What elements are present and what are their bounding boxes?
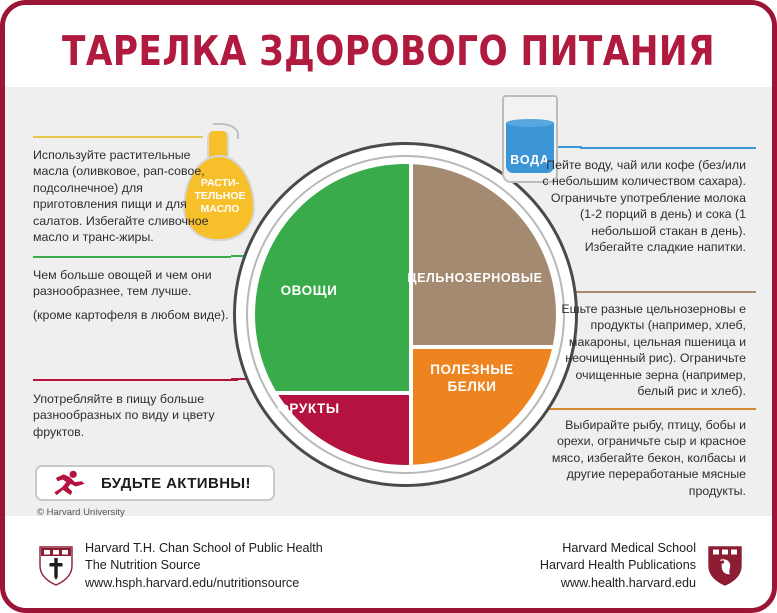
footer-right-line-3[interactable]: www.health.harvard.edu	[540, 575, 696, 593]
footer-right-lines: Harvard Medical School Harvard Health Pu…	[540, 540, 696, 593]
note-whole-grains-paragraph: Ешьте разные цельнозерновы е продукты (н…	[538, 301, 746, 399]
harvard-shield-icon	[39, 546, 73, 586]
note-vegetables-paragraph-2: (кроме картофеля в любом виде).	[33, 307, 229, 323]
be-active-label: БУДЬТЕ АКТИВНЫ!	[101, 475, 251, 492]
footer-right-line-1: Harvard Medical School	[540, 540, 696, 558]
footer-harvard-chan: Harvard T.H. Chan School of Public Healt…	[39, 540, 323, 593]
note-water: Пейте воду, чай или кофе (без/или с небо…	[538, 157, 746, 255]
note-oil: Используйте растительные масла (оливково…	[33, 147, 229, 245]
plate-label-proteins: ПОЛЕЗНЫЕ БЕЛКИ	[402, 361, 542, 395]
plate-quadrants	[255, 164, 556, 465]
note-whole-grains: Ешьте разные цельнозерновы е продукты (н…	[538, 301, 746, 399]
note-fruits: Употребляйте в пищу больше разнообразных…	[33, 391, 229, 440]
footer-right-line-2: Harvard Health Publications	[540, 557, 696, 575]
plate-section-whole-grains	[413, 164, 556, 345]
copyright-text: © Harvard University	[37, 507, 125, 518]
vegetables-connector-rule	[33, 256, 231, 258]
note-fruits-paragraph: Употребляйте в пищу больше разнообразных…	[33, 391, 229, 440]
footer-left-line-2: The Nutrition Source	[85, 557, 323, 575]
plate-label-fruits: ФРУКТЫ	[256, 400, 361, 417]
be-active-badge[interactable]: БУДЬТЕ АКТИВНЫ!	[35, 465, 275, 501]
note-proteins-paragraph: Выбирайте рыбу, птицу, бобы и орехи, огр…	[538, 417, 746, 499]
footer-left-line-1: Harvard T.H. Chan School of Public Healt…	[85, 540, 323, 558]
water-connector-rule	[580, 147, 756, 149]
plate-label-whole-grains: ЦЕЛЬНОЗЕРНОВЫЕ	[395, 270, 555, 287]
oil-connector-rule	[33, 136, 203, 138]
note-vegetables-paragraph-1: Чем больше овощей и чем они разнообразне…	[33, 267, 229, 300]
running-person-icon	[49, 470, 87, 496]
note-proteins: Выбирайте рыбу, птицу, бобы и орехи, огр…	[538, 417, 746, 499]
footer-left-lines: Harvard T.H. Chan School of Public Healt…	[85, 540, 323, 593]
fruits-connector-rule	[33, 379, 238, 381]
note-oil-paragraph: Используйте растительные масла (оливково…	[33, 147, 229, 245]
healthy-eating-plate-graphic	[233, 142, 578, 487]
harvard-shield-icon	[708, 546, 742, 586]
page-title: ТАРЕЛКА ЗДОРОВОГО ПИТАНИЯ	[32, 27, 745, 75]
whole-grains-connector-rule	[561, 291, 756, 293]
footer-harvard-medical: Harvard Medical School Harvard Health Pu…	[540, 540, 742, 593]
footer-left-line-3[interactable]: www.hsph.harvard.edu/nutritionsource	[85, 575, 323, 593]
plate-section-vegetables	[255, 164, 409, 391]
note-vegetables: Чем больше овощей и чем они разнообразне…	[33, 267, 229, 323]
healthy-eating-plate-poster: ТАРЕЛКА ЗДОРОВОГО ПИТАНИЯ ОВОЩИ ФРУКТЫ Ц…	[0, 0, 777, 613]
note-water-paragraph: Пейте воду, чай или кофе (без/или с небо…	[538, 157, 746, 255]
plate-label-vegetables: ОВОЩИ	[254, 282, 364, 299]
